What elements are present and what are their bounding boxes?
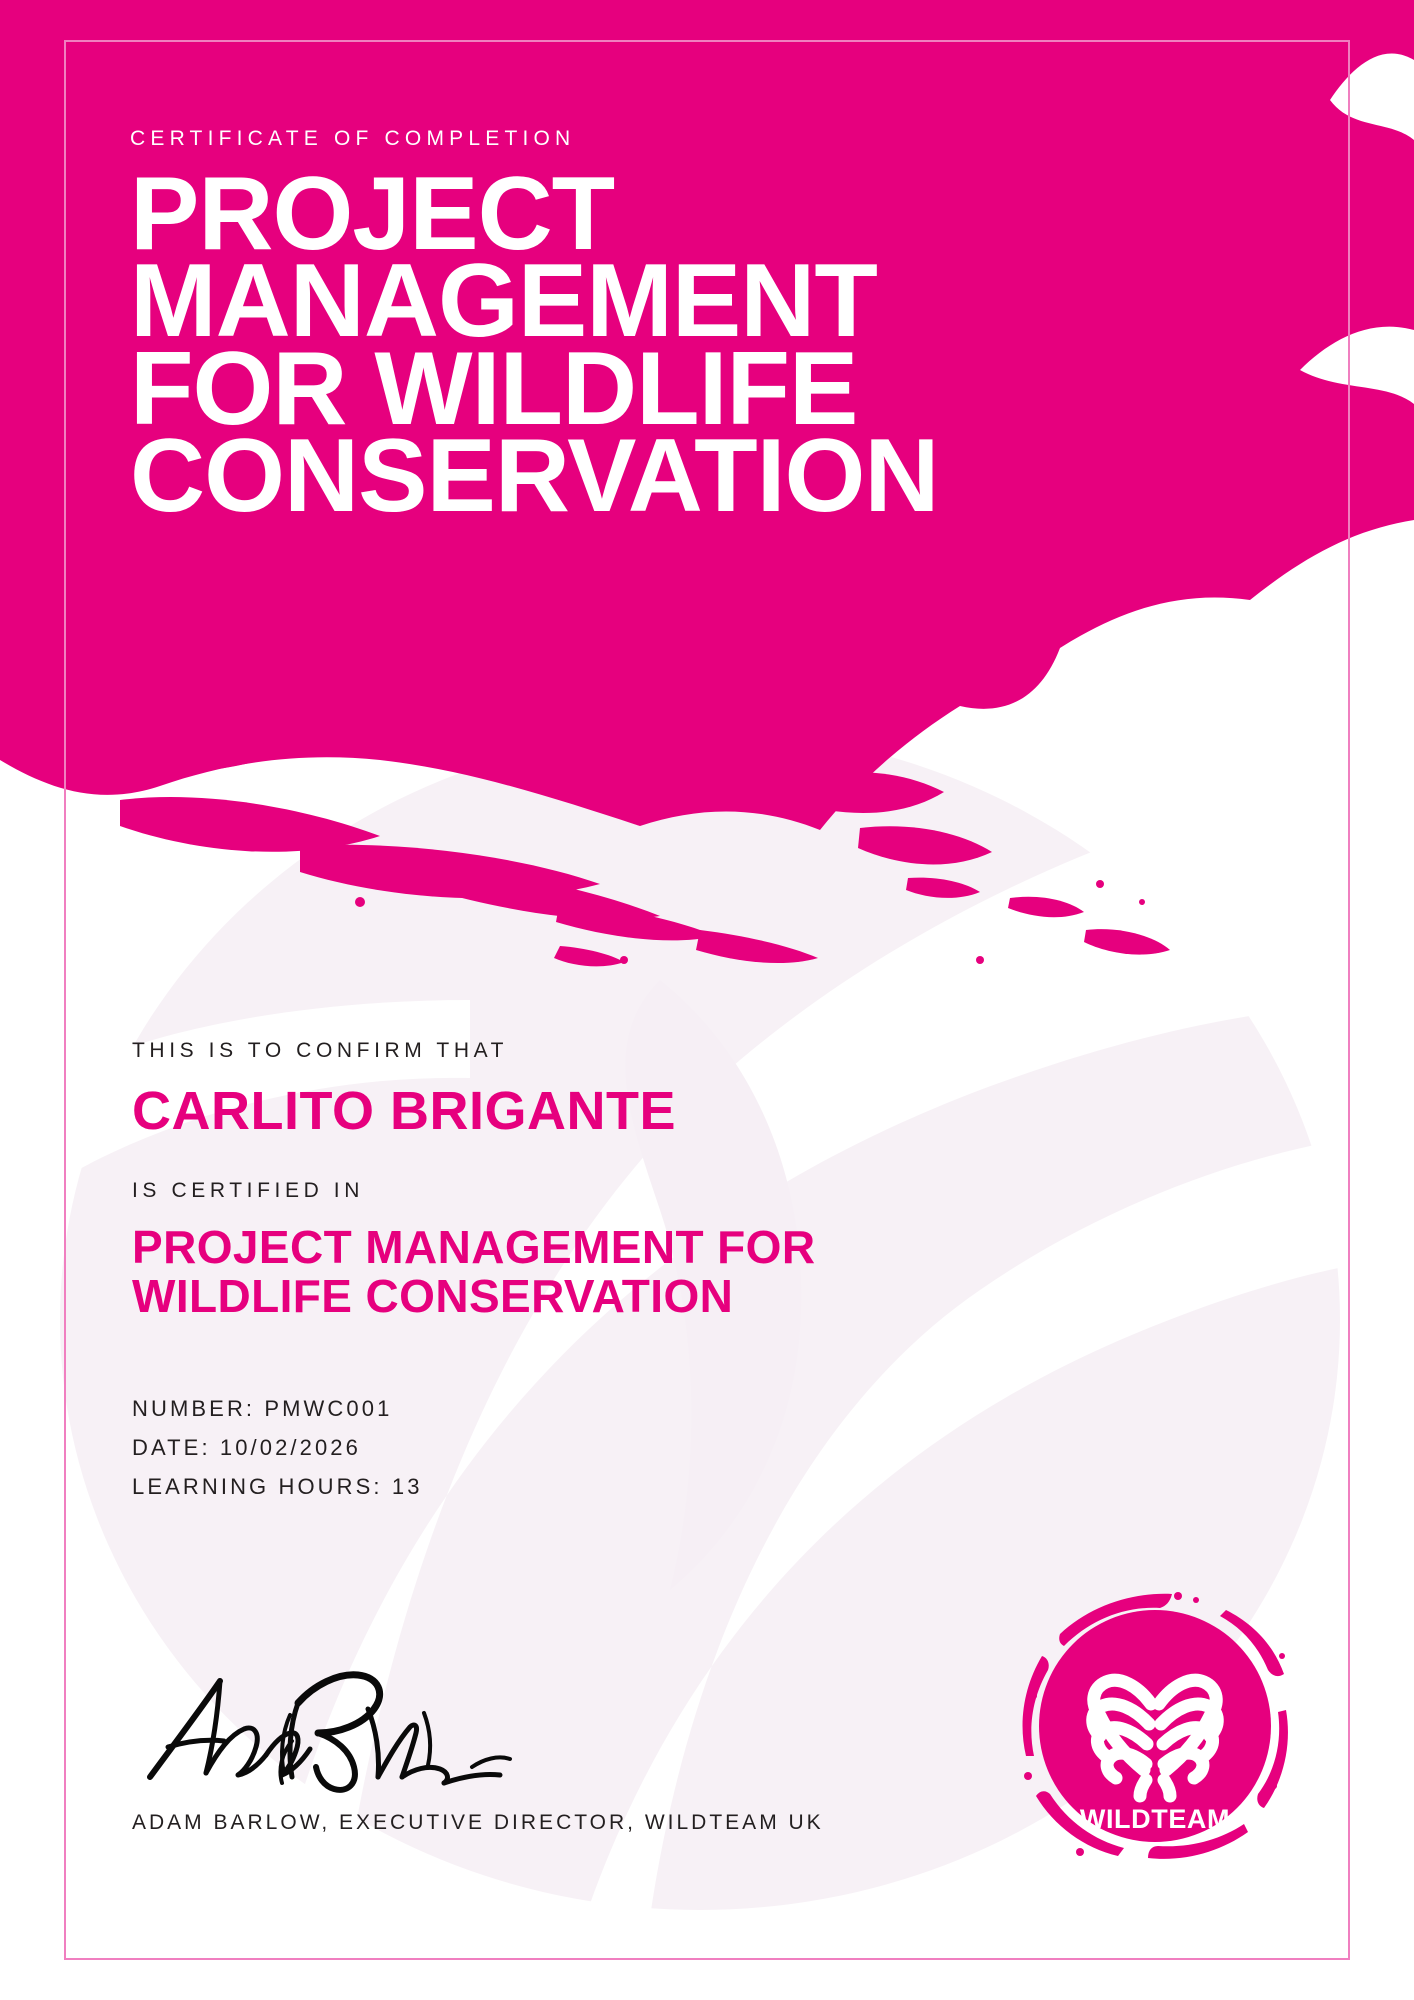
registered-trademark-icon: ®: [1244, 1808, 1252, 1820]
signature-block: ADAM BARLOW, EXECUTIVE DIRECTOR, WILDTEA…: [132, 1655, 824, 1835]
kicker-label: CERTIFICATE OF COMPLETION: [130, 128, 939, 149]
meta-learning-hours: LEARNING HOURS: 13: [132, 1467, 1132, 1506]
signature-caption: ADAM BARLOW, EXECUTIVE DIRECTOR, WILDTEA…: [132, 1811, 824, 1835]
course-name-line-2: WILDLIFE CONSERVATION: [132, 1272, 1132, 1321]
page-title: PROJECT MANAGEMENT FOR WILDLIFE CONSERVA…: [130, 171, 939, 520]
confirm-label: THIS IS TO CONFIRM THAT: [132, 1040, 1132, 1061]
page-title-line-4: CONSERVATION: [130, 433, 939, 520]
wildteam-wordmark: WILDTEAM: [1080, 1804, 1230, 1834]
course-name: PROJECT MANAGEMENT FOR WILDLIFE CONSERVA…: [132, 1223, 1132, 1321]
signature-image: [132, 1655, 552, 1795]
meta-number: NUMBER: PMWC001: [132, 1389, 1132, 1428]
certificate-header: CERTIFICATE OF COMPLETION PROJECT MANAGE…: [130, 128, 939, 520]
certified-in-label: IS CERTIFIED IN: [132, 1180, 1132, 1201]
wildteam-logo: WILDTEAM ®: [1020, 1590, 1290, 1860]
meta-date: DATE: 10/02/2026: [132, 1428, 1132, 1467]
certificate-page: CERTIFICATE OF COMPLETION PROJECT MANAGE…: [0, 0, 1414, 2000]
certificate-meta: NUMBER: PMWC001 DATE: 10/02/2026 LEARNIN…: [132, 1389, 1132, 1506]
recipient-name: CARLITO BRIGANTE: [132, 1083, 1132, 1140]
course-name-line-1: PROJECT MANAGEMENT FOR: [132, 1223, 1132, 1272]
certificate-body: THIS IS TO CONFIRM THAT CARLITO BRIGANTE…: [132, 1040, 1132, 1507]
